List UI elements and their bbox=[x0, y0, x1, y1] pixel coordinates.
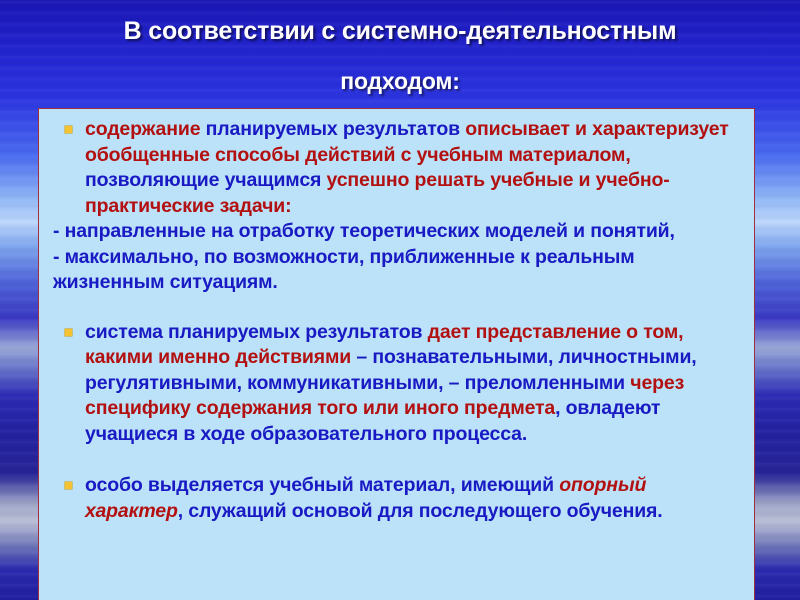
slide-title: В соответствии с системно-деятельностным… bbox=[0, 6, 800, 106]
dash-paragraph-2-text: - максимально, по возможности, приближен… bbox=[53, 246, 635, 294]
run-2-1: система планируемых результатов bbox=[85, 321, 428, 343]
run-1-2: планируемых результатов bbox=[206, 118, 466, 140]
paragraph-2-text: система планируемых результатов дает пре… bbox=[85, 321, 697, 445]
title-line-1: В соответствии с системно-деятельностным bbox=[0, 6, 800, 56]
dash-paragraph-2: - максимально, по возможности, приближен… bbox=[39, 245, 754, 296]
paragraph-3-text: особо выделяется учебный материал, имеющ… bbox=[85, 474, 663, 522]
bullet-paragraph-1: содержание планируемых результатов описы… bbox=[39, 117, 754, 219]
run-1-5: позволяющие учащимся bbox=[85, 169, 327, 191]
spacer-mid-2 bbox=[39, 447, 754, 473]
bullet-square-icon bbox=[65, 482, 72, 489]
run-1-1: содержание bbox=[85, 118, 206, 140]
run-1-4: , bbox=[625, 144, 630, 166]
bullet-paragraph-2: система планируемых результатов дает пре… bbox=[39, 320, 754, 448]
bullet-square-icon bbox=[65, 126, 72, 133]
spacer-top bbox=[39, 109, 754, 117]
spacer-mid-1 bbox=[39, 296, 754, 320]
bullet-paragraph-3: особо выделяется учебный материал, имеющ… bbox=[39, 473, 754, 524]
dash-paragraph-1-text: - направленные на отработку теоретически… bbox=[53, 220, 675, 242]
paragraph-1-text: содержание планируемых результатов описы… bbox=[85, 118, 729, 217]
title-line-2: подходом: bbox=[0, 56, 800, 106]
run-3-1: особо выделяется учебный материал, имеющ… bbox=[85, 474, 559, 496]
dash-paragraph-1: - направленные на отработку теоретически… bbox=[39, 219, 754, 245]
run-3-3: , служащий основой для последующего обуч… bbox=[178, 500, 663, 522]
content-panel: содержание планируемых результатов описы… bbox=[38, 108, 755, 600]
bullet-square-icon bbox=[65, 329, 72, 336]
